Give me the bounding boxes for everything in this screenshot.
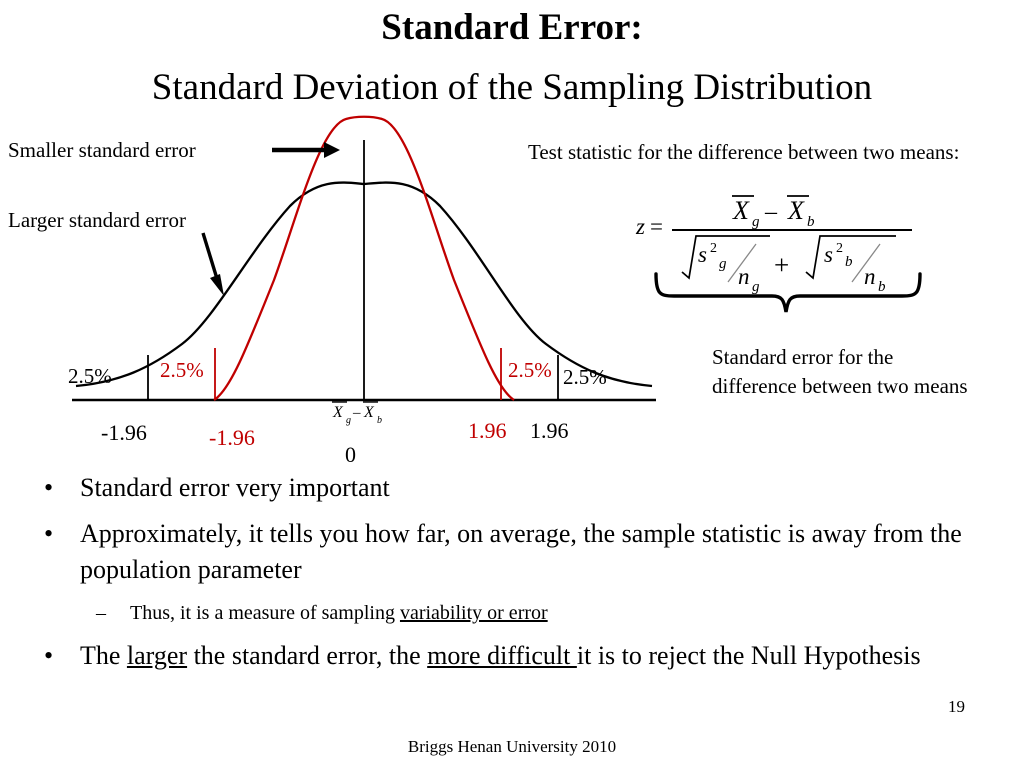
slide-title-line1: Standard Error:: [0, 6, 1024, 50]
bullet-marker: •: [44, 638, 53, 674]
bullet-marker: •: [44, 470, 53, 506]
bullet-text: Approximately, it tells you how far, on …: [80, 519, 962, 584]
larger-se-arrow: [203, 233, 224, 296]
svg-text:X: X: [363, 404, 375, 421]
svg-text:g: g: [719, 256, 727, 272]
axis-tick-pos-1-96-black: 1.96: [530, 418, 569, 444]
svg-text:X: X: [332, 404, 344, 421]
footer-credit: Briggs Henan University 2010: [0, 737, 1024, 757]
svg-text:b: b: [845, 254, 853, 270]
bullet-text-underlined: variability or error: [400, 602, 548, 624]
bullet-text-underlined-more-difficult: more difficult: [427, 641, 577, 670]
svg-text:b: b: [878, 279, 886, 295]
svg-text:g: g: [752, 214, 760, 230]
test-statistic-intro-text: Test statistic for the difference betwee…: [528, 138, 998, 166]
bullet-text-c: it is to reject the Null Hypothesis: [577, 641, 921, 670]
svg-text:b: b: [807, 214, 815, 230]
bullet-text-underlined-larger: larger: [127, 641, 187, 670]
svg-text:2: 2: [710, 241, 717, 256]
svg-text:X: X: [732, 196, 750, 225]
tail-pct-right-black: 2.5%: [563, 365, 607, 390]
svg-text:g: g: [346, 415, 351, 426]
svg-text:b: b: [377, 415, 382, 426]
bullet-item-1: • Standard error very important: [34, 470, 994, 506]
tail-pct-left-red: 2.5%: [160, 358, 204, 383]
svg-text:+: +: [774, 250, 789, 280]
svg-text:–: –: [352, 405, 361, 421]
larger-standard-error-label: Larger standard error: [8, 208, 186, 233]
axis-tick-neg-1-96-black: -1.96: [101, 420, 147, 446]
axis-center-zero-label: 0: [345, 442, 356, 468]
bullet-text: Standard error very important: [80, 473, 390, 502]
svg-text:=: =: [650, 214, 663, 239]
axis-tick-pos-1-96-red: 1.96: [468, 418, 507, 444]
svg-text:s: s: [698, 242, 707, 267]
bullet-text-a: The: [80, 641, 127, 670]
smaller-se-arrow: [272, 142, 340, 158]
bullet-text-b: the standard error, the: [187, 641, 427, 670]
tail-pct-right-red: 2.5%: [508, 358, 552, 383]
page-number: 19: [948, 697, 965, 717]
svg-text:s: s: [824, 242, 833, 267]
svg-text:n: n: [864, 264, 876, 289]
svg-text:g: g: [752, 279, 760, 295]
bullet-marker: •: [44, 516, 53, 552]
tail-pct-left-black: 2.5%: [68, 364, 112, 389]
bullet-item-3-sub: – Thus, it is a measure of sampling vari…: [34, 598, 994, 628]
standard-error-difference-caption: Standard error for the difference betwee…: [712, 343, 982, 401]
bullet-item-4: • The larger the standard error, the mor…: [34, 638, 994, 674]
axis-tick-neg-1-96-red: -1.96: [209, 425, 255, 451]
bullet-list: • Standard error very important • Approx…: [34, 470, 994, 684]
svg-text:–: –: [764, 199, 778, 225]
svg-text:n: n: [738, 264, 750, 289]
z-test-statistic-formula: z = X g – X b s 2 g n g + s 2 b n b: [634, 186, 954, 316]
bullet-item-2: • Approximately, it tells you how far, o…: [34, 516, 994, 588]
svg-text:2: 2: [836, 241, 843, 256]
svg-text:z: z: [635, 214, 645, 239]
bullet-text-pre: Thus, it is a measure of sampling: [130, 602, 400, 624]
dash-marker: –: [96, 598, 106, 628]
svg-text:X: X: [787, 196, 805, 225]
smaller-standard-error-label: Smaller standard error: [8, 138, 196, 163]
axis-center-mean-difference-label: X g – X b: [330, 398, 414, 428]
